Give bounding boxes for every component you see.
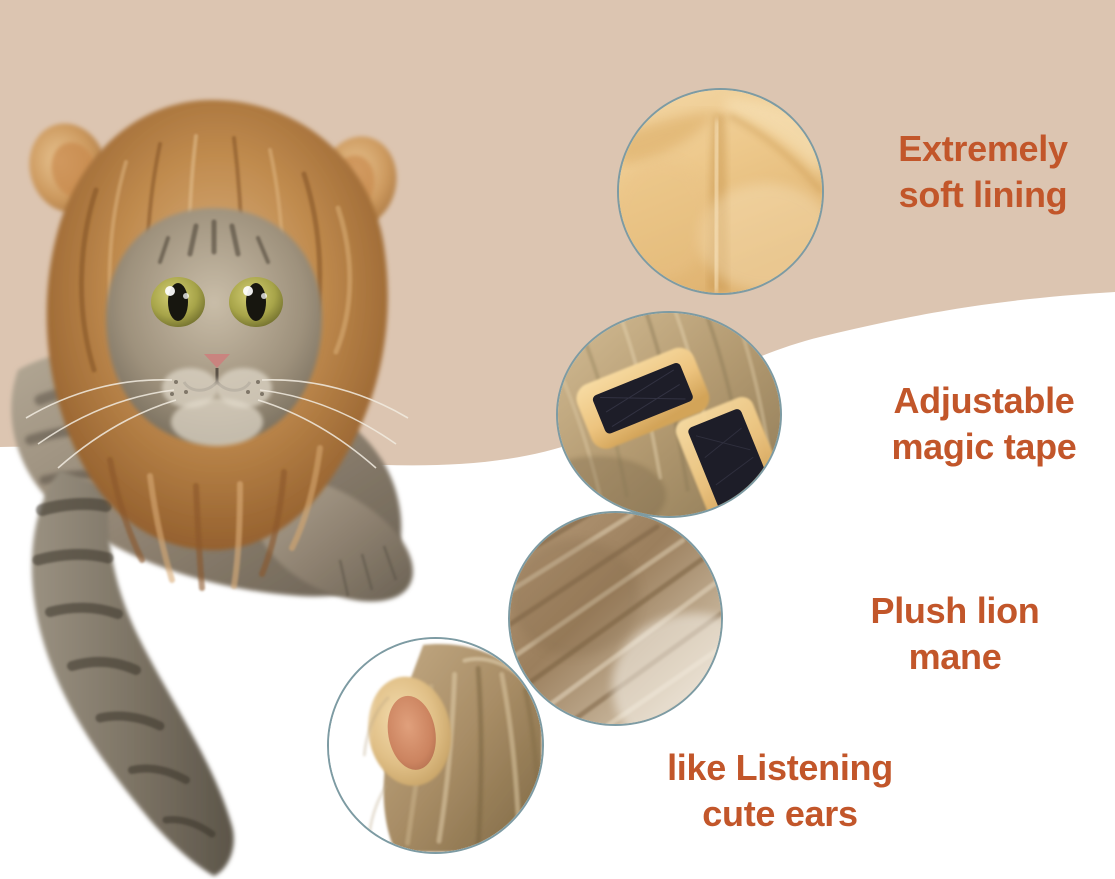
cat-eye-right — [229, 277, 283, 327]
cat-eye-left — [151, 277, 205, 327]
label-soft-lining-line-2: soft lining — [858, 172, 1108, 218]
callout-cute-ears — [327, 637, 544, 854]
label-plush-mane: Plush lion mane — [840, 588, 1070, 680]
label-soft-lining: Extremely soft lining — [858, 126, 1108, 218]
label-plush-mane-line-2: mane — [840, 634, 1070, 680]
cat-face — [106, 208, 322, 446]
label-cute-ears-line-1: like Listening — [600, 745, 960, 791]
callout-magic-tape — [556, 311, 782, 518]
label-soft-lining-line-1: Extremely — [858, 126, 1108, 172]
label-cute-ears: like Listening cute ears — [600, 745, 960, 837]
plush-mane-closeup-image — [510, 513, 721, 724]
cute-ears-closeup-image — [329, 639, 542, 852]
magic-tape-closeup-image — [558, 313, 780, 516]
callout-soft-lining — [617, 88, 824, 295]
callout-plush-mane — [508, 511, 723, 726]
label-cute-ears-line-2: cute ears — [600, 791, 960, 837]
label-magic-tape-line-1: Adjustable — [858, 378, 1110, 424]
infographic-canvas: Extremely soft lining Adjustable magic t… — [0, 0, 1115, 879]
soft-lining-closeup-image — [619, 90, 822, 293]
label-magic-tape: Adjustable magic tape — [858, 378, 1110, 470]
label-magic-tape-line-2: magic tape — [858, 424, 1110, 470]
label-plush-mane-line-1: Plush lion — [840, 588, 1070, 634]
